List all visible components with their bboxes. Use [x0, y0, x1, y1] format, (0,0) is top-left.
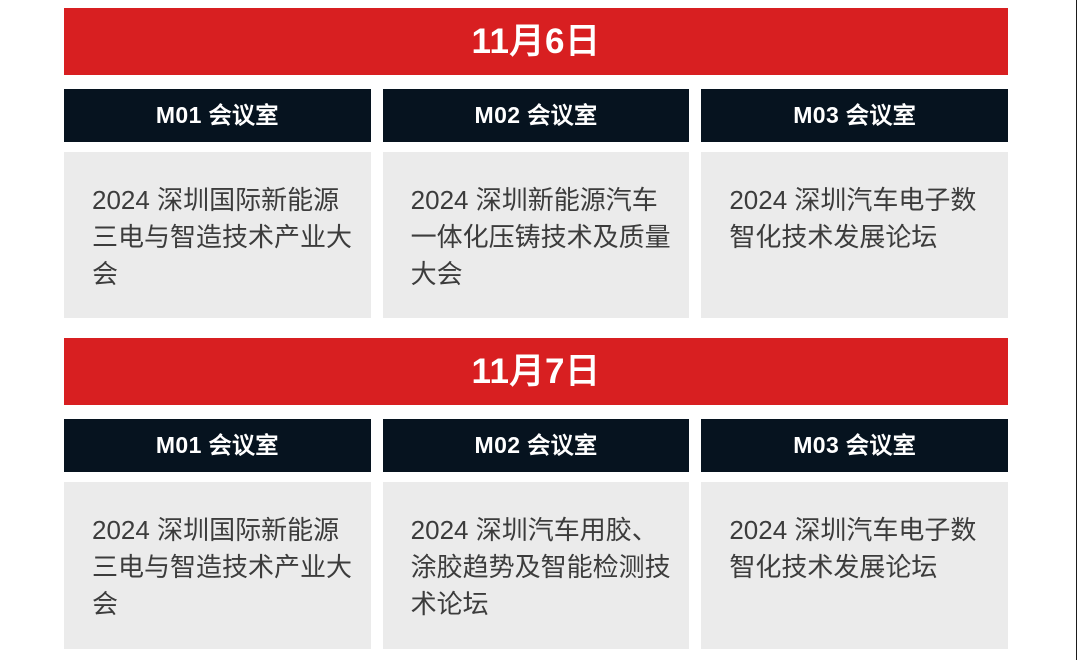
- room-column-m03[interactable]: M03 会议室 2024 深圳汽车电子数智化技术发展论坛: [701, 419, 1008, 649]
- right-edge-rule: [1076, 0, 1077, 660]
- date-banner-day-1: 11月6日: [64, 8, 1008, 75]
- room-header-m03: M03 会议室: [701, 419, 1008, 472]
- session-card-m01[interactable]: 2024 深圳国际新能源三电与智造技术产业大会: [64, 482, 371, 649]
- room-label: M02 会议室: [475, 434, 598, 457]
- conference-schedule: 11月6日 M01 会议室 2024 深圳国际新能源三电与智造技术产业大会 M0…: [64, 8, 1008, 649]
- session-card-m02[interactable]: 2024 深圳汽车用胶、涂胶趋势及智能检测技术论坛: [383, 482, 690, 649]
- session-card-m03[interactable]: 2024 深圳汽车电子数智化技术发展论坛: [701, 152, 1008, 318]
- rooms-row-day-2: M01 会议室 2024 深圳国际新能源三电与智造技术产业大会 M02 会议室 …: [64, 419, 1008, 649]
- room-column-m01[interactable]: M01 会议室 2024 深圳国际新能源三电与智造技术产业大会: [64, 419, 371, 649]
- date-banner-day-2: 11月7日: [64, 338, 1008, 405]
- room-header-m01: M01 会议室: [64, 419, 371, 472]
- day-block-2: 11月7日 M01 会议室 2024 深圳国际新能源三电与智造技术产业大会 M0…: [64, 338, 1008, 649]
- room-column-m02[interactable]: M02 会议室 2024 深圳新能源汽车一体化压铸技术及质量大会: [383, 89, 690, 318]
- session-title: 2024 深圳新能源汽车一体化压铸技术及质量大会: [411, 182, 674, 293]
- room-header-m02: M02 会议室: [383, 89, 690, 142]
- room-column-m03[interactable]: M03 会议室 2024 深圳汽车电子数智化技术发展论坛: [701, 89, 1008, 318]
- session-card-m03[interactable]: 2024 深圳汽车电子数智化技术发展论坛: [701, 482, 1008, 649]
- room-header-m02: M02 会议室: [383, 419, 690, 472]
- room-label: M02 会议室: [475, 104, 598, 127]
- room-label: M03 会议室: [793, 104, 916, 127]
- session-title: 2024 深圳国际新能源三电与智造技术产业大会: [92, 182, 355, 293]
- room-label: M01 会议室: [156, 434, 279, 457]
- date-label: 11月7日: [472, 354, 601, 389]
- day-block-1: 11月6日 M01 会议室 2024 深圳国际新能源三电与智造技术产业大会 M0…: [64, 8, 1008, 318]
- session-card-m02[interactable]: 2024 深圳新能源汽车一体化压铸技术及质量大会: [383, 152, 690, 318]
- session-card-m01[interactable]: 2024 深圳国际新能源三电与智造技术产业大会: [64, 152, 371, 318]
- session-title: 2024 深圳汽车电子数智化技术发展论坛: [729, 182, 992, 256]
- session-title: 2024 深圳国际新能源三电与智造技术产业大会: [92, 512, 355, 623]
- session-title: 2024 深圳汽车电子数智化技术发展论坛: [729, 512, 992, 586]
- rooms-row-day-1: M01 会议室 2024 深圳国际新能源三电与智造技术产业大会 M02 会议室 …: [64, 89, 1008, 318]
- session-title: 2024 深圳汽车用胶、涂胶趋势及智能检测技术论坛: [411, 512, 674, 623]
- room-label: M01 会议室: [156, 104, 279, 127]
- room-header-m03: M03 会议室: [701, 89, 1008, 142]
- room-column-m02[interactable]: M02 会议室 2024 深圳汽车用胶、涂胶趋势及智能检测技术论坛: [383, 419, 690, 649]
- room-column-m01[interactable]: M01 会议室 2024 深圳国际新能源三电与智造技术产业大会: [64, 89, 371, 318]
- room-label: M03 会议室: [793, 434, 916, 457]
- date-label: 11月6日: [472, 24, 601, 59]
- room-header-m01: M01 会议室: [64, 89, 371, 142]
